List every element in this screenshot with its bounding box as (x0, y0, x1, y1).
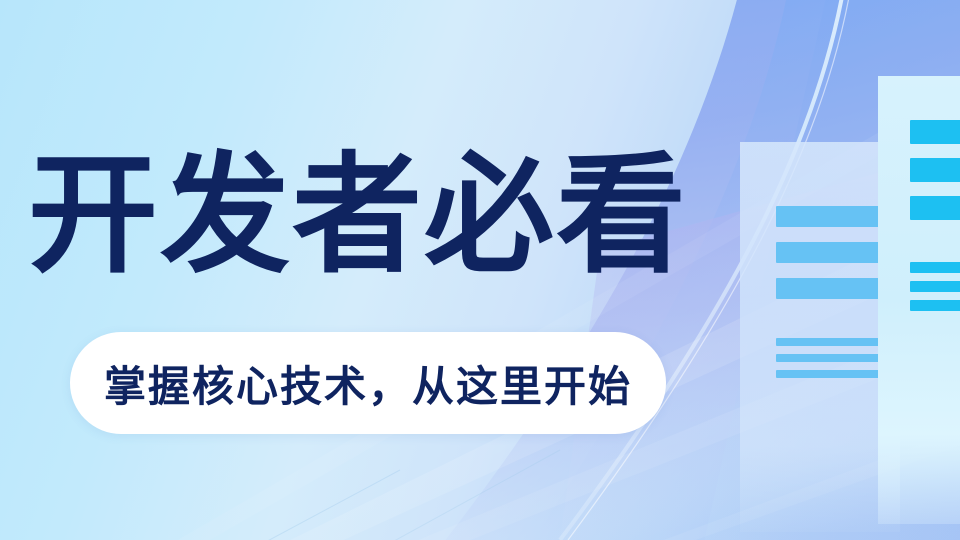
card-front-bar-5 (910, 281, 960, 292)
subtitle-text: 掌握核心技术，从这里开始 (104, 353, 632, 414)
hairline-2 (250, 450, 560, 540)
hairline-1 (120, 470, 400, 540)
card-front-bar-2 (910, 158, 960, 182)
card-front-bar-6 (910, 300, 960, 311)
headline-title: 开发者必看 (28, 150, 688, 280)
card-front-bar-3 (910, 196, 960, 220)
document-card-back (740, 142, 900, 532)
document-card-front (878, 76, 960, 524)
promo-banner: 开发者必看 掌握核心技术，从这里开始 (0, 0, 960, 540)
card-front-bar-4 (910, 262, 960, 273)
card-front-bar-1 (910, 120, 960, 144)
subtitle-pill: 掌握核心技术，从这里开始 (70, 332, 666, 434)
